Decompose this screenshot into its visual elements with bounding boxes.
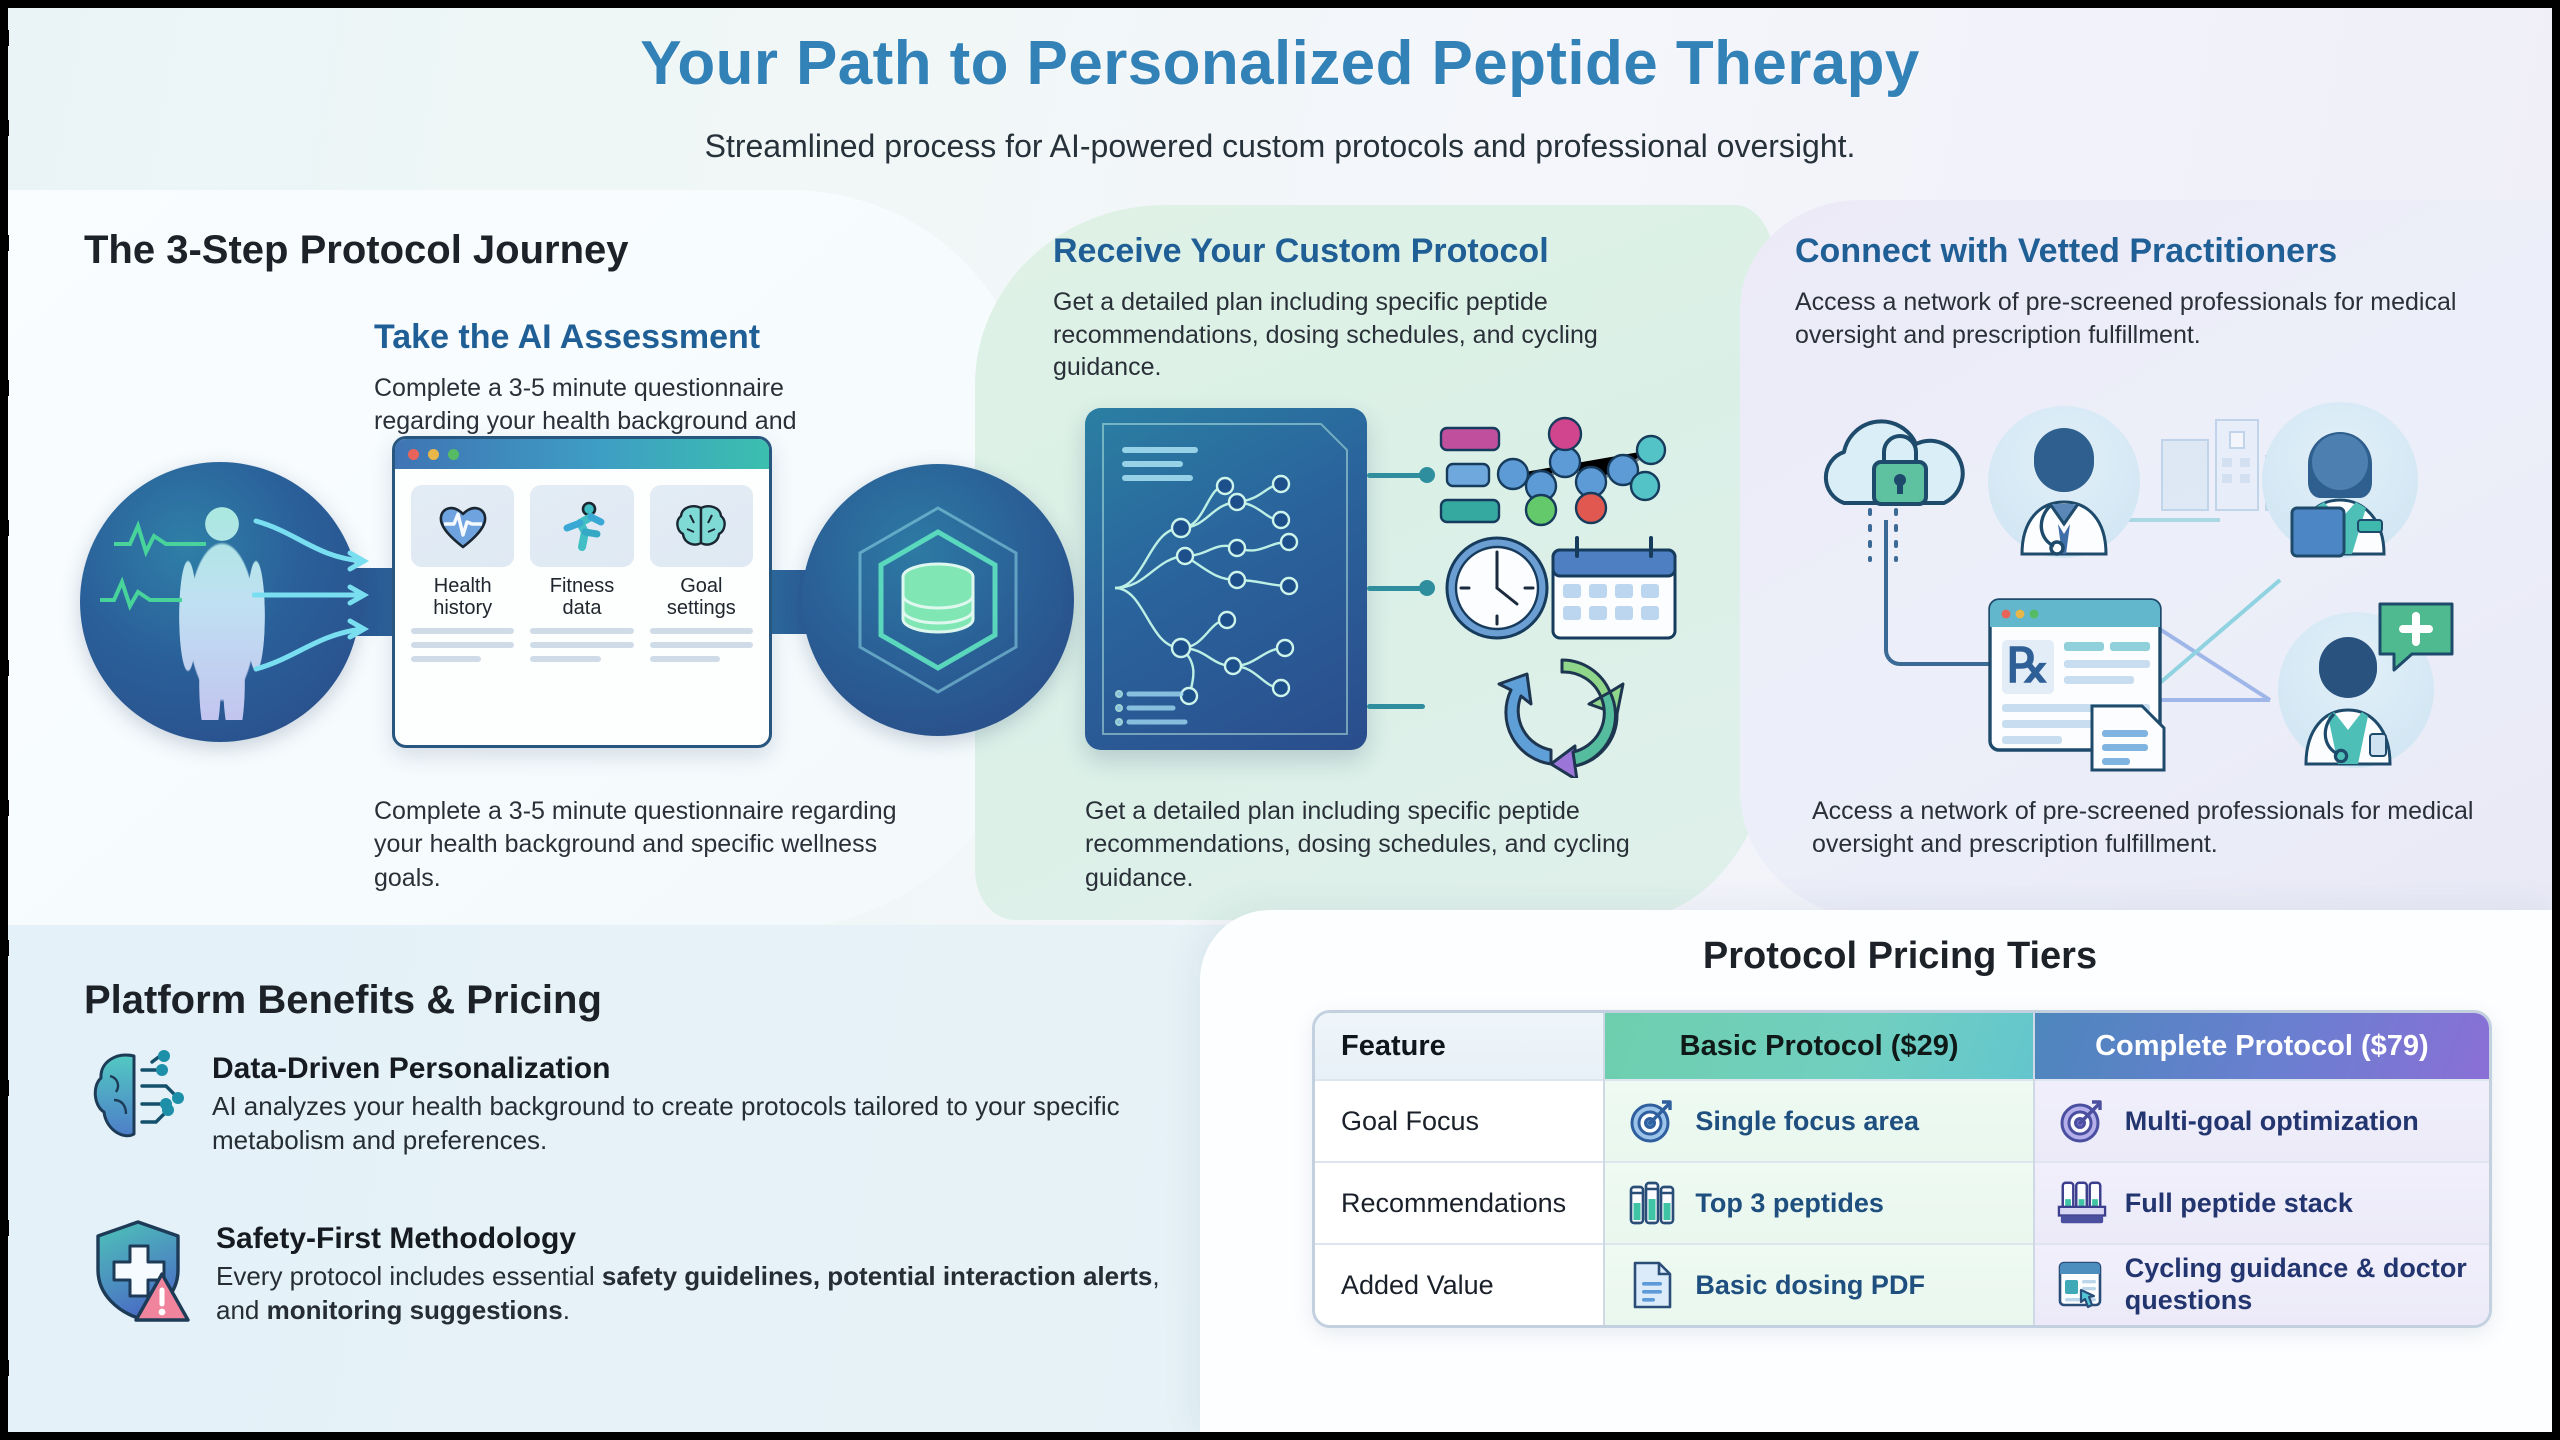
connector-line-cycle [1367, 704, 1425, 709]
cell-complete-goal-focus: Multi-goal optimization [2035, 1079, 2489, 1161]
pricing-section-heading: Protocol Pricing Tiers [1310, 935, 2490, 978]
target-icon [2057, 1096, 2107, 1146]
target-icon [1627, 1096, 1677, 1146]
brain-circuit-icon [90, 1048, 186, 1144]
tile-icon-box [650, 485, 753, 567]
female-doctor-avatar [2262, 402, 2418, 558]
assessment-tiles: Health history Fitness data [395, 469, 769, 620]
column-header-basic: Basic Protocol ($29) [1605, 1013, 2032, 1079]
benefit-body-rich: Every protocol includes essential safety… [216, 1260, 1180, 1328]
vials-icon [1627, 1178, 1677, 1228]
step-3-title: Connect with Vetted Practitioners [1795, 232, 2515, 271]
brain-icon [674, 503, 728, 549]
cycle-arrows-icon [1477, 648, 1647, 778]
step-1-title: Take the AI Assessment [374, 318, 974, 357]
step-3-caption: Access a network of pre-screened profess… [1812, 795, 2502, 862]
ruler-tick [0, 940, 9, 956]
window-minimize-dot[interactable] [428, 449, 439, 460]
ruler-tick [0, 30, 9, 46]
row-feature-label: Recommendations [1315, 1161, 1603, 1243]
cell-basic-recommendations: Top 3 peptides [1605, 1161, 2032, 1243]
assessment-app-window[interactable]: Health history Fitness data [392, 436, 772, 748]
pricing-table: Feature Basic Protocol ($29) Complete Pr… [1312, 1010, 2492, 1328]
step-3-illustration: ℞ [1800, 400, 2500, 780]
row-feature-label: Added Value [1315, 1243, 1603, 1325]
cell-complete-added-value: Cycling guidance & doctor questions [2035, 1243, 2489, 1325]
row-feature-label: Goal Focus [1315, 1079, 1603, 1161]
prescription-window-icon[interactable]: ℞ [1986, 596, 2178, 772]
tile-icon-box [530, 485, 633, 567]
database-hexagon-icon [802, 464, 1074, 736]
tile-label: Fitness data [530, 575, 633, 620]
window-maximize-dot[interactable] [448, 449, 459, 460]
benefit-body-part: Every protocol includes essential [216, 1261, 602, 1291]
document-icon [1627, 1260, 1677, 1310]
ruler-tick [0, 520, 9, 536]
clock-calendar-icon [1441, 530, 1681, 646]
ruler-tick [0, 120, 9, 136]
connector-dot-schedule [1419, 580, 1435, 596]
tile-label: Goal settings [650, 575, 753, 620]
running-person-icon [558, 501, 606, 551]
column-header-feature: Feature [1315, 1013, 1603, 1079]
cell-label: Top 3 peptides [1695, 1188, 1884, 1219]
table-row: Added Value Basic dosing PDF [1315, 1243, 2489, 1325]
step-2-illustration [1085, 408, 1705, 778]
molecule-icon [1437, 416, 1681, 536]
cell-basic-goal-focus: Single focus area [1605, 1079, 2032, 1161]
tile-label: Health history [411, 575, 514, 620]
ruler-tick [0, 1080, 9, 1096]
cell-basic-added-value: Basic dosing PDF [1605, 1243, 2032, 1325]
step-1-intro: Complete a 3-5 minute questionnaire rega… [374, 372, 894, 437]
dashboard-click-icon [2057, 1260, 2107, 1310]
cell-label: Cycling guidance & doctor questions [2125, 1253, 2467, 1317]
benefit-title: Data-Driven Personalization [212, 1052, 1180, 1086]
data-flow-arrows-icon [252, 517, 372, 677]
secure-cloud-lock-icon [1804, 408, 1979, 528]
ai-decision-tree-document [1085, 408, 1367, 750]
connector-line-schedule [1367, 586, 1425, 591]
shield-alert-icon [90, 1218, 190, 1322]
cell-label: Basic dosing PDF [1695, 1270, 1925, 1301]
human-silhouette-data-orb [80, 462, 360, 742]
tile-health-history[interactable]: Health history [411, 485, 514, 620]
infographic-canvas: Your Path to Personalized Peptide Therap… [0, 0, 2560, 1440]
benefit-body-part: . [563, 1295, 570, 1325]
page-title: Your Path to Personalized Peptide Therap… [0, 28, 2560, 99]
benefit-title: Safety-First Methodology [216, 1222, 1180, 1256]
table-row: Goal Focus Single focus area [1315, 1079, 2489, 1161]
benefit-body-part-bold: monitoring suggestions [267, 1295, 563, 1325]
ruler-tick [0, 1360, 9, 1376]
step-2-intro: Get a detailed plan including specific p… [1053, 286, 1713, 384]
medical-chat-bubble-icon [2374, 598, 2458, 674]
ruler-tick [0, 660, 9, 676]
benefit-body: AI analyzes your health background to cr… [212, 1090, 1180, 1158]
ecg-line-icon-1 [114, 518, 206, 558]
table-header-row: Feature Basic Protocol ($29) Complete Pr… [1315, 1013, 2489, 1079]
decision-tree-icon [1085, 408, 1367, 750]
benefits-section-heading: Platform Benefits & Pricing [84, 978, 602, 1023]
connector-line-molecule [1367, 473, 1425, 478]
ecg-line-icon-2 [100, 572, 182, 612]
cell-complete-recommendations: Full peptide stack [2035, 1161, 2489, 1243]
tile-goal-settings[interactable]: Goal settings [650, 485, 753, 620]
male-doctor-avatar [1988, 406, 2140, 558]
benefit-body-part-bold: safety guidelines, potential interaction… [602, 1261, 1152, 1291]
placeholder-text-lines [395, 620, 769, 670]
ruler-tick [0, 800, 9, 816]
window-close-dot[interactable] [408, 449, 419, 460]
page-subtitle: Streamlined process for AI-powered custo… [0, 128, 2560, 165]
step-1-illustration: Health history Fitness data [80, 450, 1020, 750]
database-hexagon-orb [802, 464, 1074, 736]
step-2-caption: Get a detailed plan including specific p… [1085, 795, 1685, 895]
journey-section-heading: The 3-Step Protocol Journey [84, 228, 629, 273]
step-1-caption: Complete a 3-5 minute questionnaire rega… [374, 795, 934, 895]
benefit-item-personalization: Data-Driven Personalization AI analyzes … [90, 1048, 1180, 1158]
tile-fitness-data[interactable]: Fitness data [530, 485, 633, 620]
step-3-intro: Access a network of pre-screened profess… [1795, 286, 2495, 351]
table-row: Recommendations [1315, 1161, 2489, 1243]
vial-rack-icon [2057, 1178, 2107, 1228]
ruler-tick [0, 1220, 9, 1236]
cell-label: Full peptide stack [2125, 1188, 2353, 1219]
ruler-tick [0, 380, 9, 396]
ruler-tick [0, 235, 9, 251]
cell-label: Multi-goal optimization [2125, 1106, 2419, 1137]
window-title-bar [395, 439, 769, 469]
heart-pulse-icon [437, 502, 489, 550]
svg-text:℞: ℞ [2006, 640, 2049, 693]
cell-label: Single focus area [1695, 1106, 1919, 1137]
step-2-title: Receive Your Custom Protocol [1053, 232, 1733, 271]
connector-dot-molecule [1419, 467, 1435, 483]
column-header-complete: Complete Protocol ($79) [2035, 1013, 2489, 1079]
tile-icon-box [411, 485, 514, 567]
benefit-item-safety: Safety-First Methodology Every protocol … [90, 1218, 1180, 1328]
clinician-chat-avatar [2278, 612, 2434, 768]
